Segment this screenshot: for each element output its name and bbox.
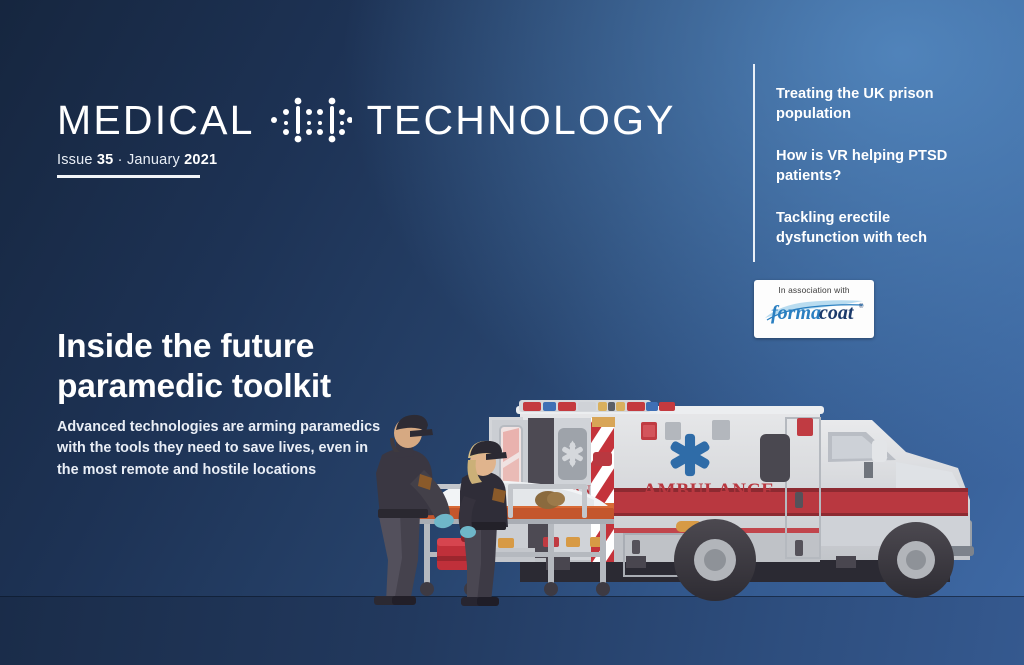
formacoat-logo: forma coat ®	[761, 296, 867, 326]
svg-text:forma: forma	[771, 302, 821, 324]
feature-title-line2: paramedic toolkit	[57, 368, 331, 405]
issue-line: Issue 35 · January 2021	[57, 152, 217, 168]
svg-text:®: ®	[859, 303, 864, 310]
headline-list: Treating the UK prison population How is…	[776, 85, 976, 248]
emergency-lightbar	[519, 400, 675, 412]
svg-text:coat: coat	[819, 302, 855, 324]
wheel-front	[878, 522, 954, 598]
issue-month: January	[127, 152, 180, 168]
sponsor-label: In association with	[778, 285, 849, 295]
feature-subtitle: Advanced technologies are arming paramed…	[57, 417, 382, 481]
vehicle-label: AMBULANCE	[643, 480, 775, 501]
issue-underline	[57, 175, 200, 178]
page-title: Inside the future paramedic toolkit	[57, 327, 457, 407]
paramedic-male-figure	[374, 415, 455, 605]
issue-number: 35	[97, 152, 114, 168]
headline-item[interactable]: Tackling erectile dysfunction with tech	[776, 209, 976, 248]
headline-item[interactable]: How is VR helping PTSD patients?	[776, 147, 976, 186]
masthead: MEDICAL TECHNOLOGY	[57, 97, 676, 143]
issue-prefix: Issue	[57, 152, 93, 168]
magazine-cover: LANCE AMBU	[0, 0, 1024, 665]
masthead-word-technology: TECHNOLOGY	[367, 100, 676, 141]
headline-item[interactable]: Treating the UK prison population	[776, 85, 976, 124]
issue-separator: ·	[118, 152, 123, 168]
dot-matrix-logo	[270, 97, 352, 143]
issue-year: 2021	[184, 152, 217, 168]
sponsor-badge[interactable]: In association with forma coat ®	[754, 280, 874, 338]
masthead-word-medical: MEDICAL	[57, 100, 255, 141]
headline-divider	[753, 64, 755, 262]
feature-title-line1: Inside the future	[57, 328, 314, 365]
